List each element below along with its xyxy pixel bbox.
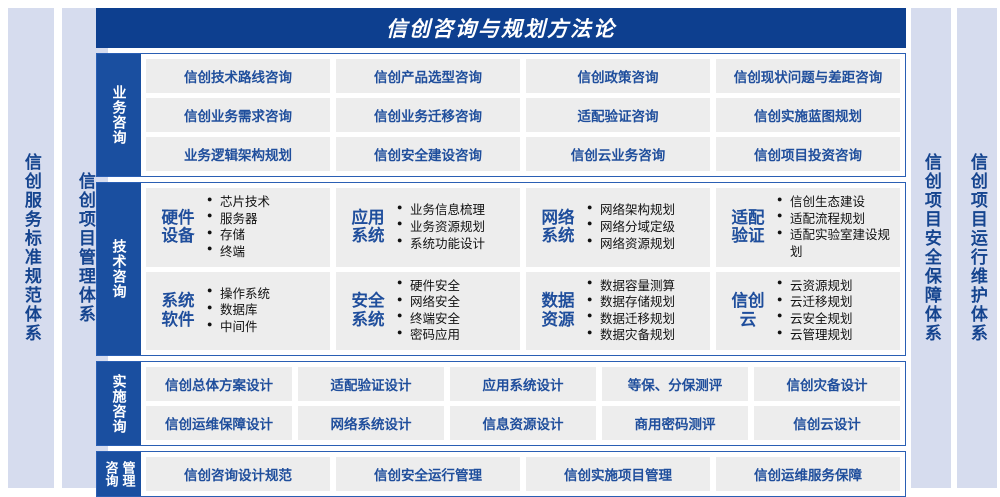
technology-card-list-item: 云安全规划 — [790, 311, 896, 328]
main-column: 信创咨询与规划方法论 业务咨询 信创技术路线咨询信创产品选型咨询信创政策咨询信创… — [96, 8, 906, 489]
implementation-chip[interactable]: 应用系统设计 — [450, 367, 596, 401]
technology-card-list-item: 数据库 — [220, 302, 326, 319]
management-chip[interactable]: 信创运维服务保障 — [716, 457, 900, 491]
implementation-row: 信创运维保障设计网络系统设计信息资源设计商用密码测评信创云设计 — [146, 406, 900, 440]
technology-card-list: 云资源规划云迁移规划云安全规划云管理规划 — [776, 278, 896, 345]
technology-card[interactable]: 信创 云云资源规划云迁移规划云安全规划云管理规划 — [716, 272, 900, 351]
technology-card-list-item: 网络架构规划 — [600, 202, 706, 219]
business-chip[interactable]: 信创技术路线咨询 — [146, 59, 330, 93]
band-label-implementation: 实施咨询 — [97, 362, 141, 445]
band-label-text: 实施咨询 — [111, 374, 126, 434]
technology-card-list-item: 芯片技术 — [220, 194, 326, 211]
technology-card-list: 操作系统数据库中间件 — [206, 286, 326, 336]
management-row: 信创咨询设计规范信创安全运行管理信创实施项目管理信创运维服务保障 — [146, 457, 900, 491]
business-chip[interactable]: 信创政策咨询 — [526, 59, 710, 93]
technology-card-title: 硬件 设备 — [154, 209, 202, 246]
business-chip[interactable]: 信创业务迁移咨询 — [336, 98, 520, 132]
implementation-chip[interactable]: 等保、分保测评 — [602, 367, 748, 401]
business-chip[interactable]: 业务逻辑架构规划 — [146, 137, 330, 171]
band-label-technology: 技术咨询 — [97, 183, 141, 355]
technology-card-list-item: 适配流程规划 — [790, 211, 896, 228]
business-chip[interactable]: 信创现状问题与差距咨询 — [716, 59, 900, 93]
technology-card[interactable]: 数据 资源数据容量测算数据存储规划数据迁移规划数据灾备规划 — [526, 272, 710, 351]
technology-card-list-item: 网络安全 — [410, 294, 516, 311]
management-chip[interactable]: 信创咨询设计规范 — [146, 457, 330, 491]
technology-card-title: 适配 验证 — [724, 209, 772, 246]
band-body-management: 信创咨询设计规范信创安全运行管理信创实施项目管理信创运维服务保障 — [141, 452, 905, 496]
band-consulting-management: 咨询 管理 信创咨询设计规范信创安全运行管理信创实施项目管理信创运维服务保障 — [96, 451, 906, 497]
technology-card[interactable]: 安全 系统硬件安全网络安全终端安全密码应用 — [336, 272, 520, 351]
implementation-chip[interactable]: 信创灾备设计 — [754, 367, 900, 401]
implementation-chip[interactable]: 网络系统设计 — [298, 406, 444, 440]
technology-card-list-item: 云管理规划 — [790, 327, 896, 344]
band-label-business: 业务咨询 — [97, 54, 141, 176]
business-chip[interactable]: 信创实施蓝图规划 — [716, 98, 900, 132]
technology-card-title: 系统 软件 — [154, 292, 202, 329]
pillar-label: 信创项目管理体系 — [76, 172, 94, 324]
technology-card-title: 信创 云 — [724, 292, 772, 329]
technology-card-list-item: 业务资源规划 — [410, 219, 516, 236]
management-chip[interactable]: 信创实施项目管理 — [526, 457, 710, 491]
technology-card-list-item: 信创生态建设 — [790, 194, 896, 211]
technology-card-list-item: 云资源规划 — [790, 278, 896, 295]
band-label-text: 业务咨询 — [111, 85, 126, 145]
technology-card-list: 硬件安全网络安全终端安全密码应用 — [396, 278, 516, 345]
band-implementation-consulting: 实施咨询 信创总体方案设计适配验证设计应用系统设计等保、分保测评信创灾备设计信创… — [96, 361, 906, 446]
pillar-label: 信创服务标准规范体系 — [22, 153, 40, 343]
technology-card-title: 数据 资源 — [534, 292, 582, 329]
business-row: 信创业务需求咨询信创业务迁移咨询适配验证咨询信创实施蓝图规划 — [146, 98, 900, 132]
banner-title: 信创咨询与规划方法论 — [386, 13, 616, 43]
technology-card-list-item: 存储 — [220, 227, 326, 244]
technology-card-list-item: 数据存储规划 — [600, 294, 706, 311]
business-row: 业务逻辑架构规划信创安全建设咨询信创云业务咨询信创项目投资咨询 — [146, 137, 900, 171]
technology-card[interactable]: 应用 系统业务信息梳理业务资源规划系统功能设计 — [336, 188, 520, 267]
technology-card-list-item: 服务器 — [220, 211, 326, 228]
band-body-technology: 硬件 设备芯片技术服务器存储终端应用 系统业务信息梳理业务资源规划系统功能设计网… — [141, 183, 905, 355]
business-chip[interactable]: 信创项目投资咨询 — [716, 137, 900, 171]
technology-card-list-item: 中间件 — [220, 319, 326, 336]
technology-card-list-item: 网络资源规划 — [600, 236, 706, 253]
management-chip[interactable]: 信创安全运行管理 — [336, 457, 520, 491]
technology-card-list: 业务信息梳理业务资源规划系统功能设计 — [396, 202, 516, 252]
technology-card[interactable]: 系统 软件操作系统数据库中间件 — [146, 272, 330, 351]
pillar-label: 信创项目运行维护体系 — [968, 153, 986, 343]
technology-card-list-item: 网络分域定级 — [600, 219, 706, 236]
band-label-text-col1: 咨询 — [103, 461, 117, 487]
technology-card-list-item: 适配实验室建设规划 — [790, 227, 896, 260]
technology-card[interactable]: 适配 验证信创生态建设适配流程规划适配实验室建设规划 — [716, 188, 900, 267]
business-chip[interactable]: 信创产品选型咨询 — [336, 59, 520, 93]
technology-card-row: 硬件 设备芯片技术服务器存储终端应用 系统业务信息梳理业务资源规划系统功能设计网… — [146, 188, 900, 267]
technology-card[interactable]: 硬件 设备芯片技术服务器存储终端 — [146, 188, 330, 267]
methodology-diagram: 信创服务标准规范体系 信创项目管理体系 信创项目安全保障体系 信创项目运行维护体… — [0, 0, 1000, 496]
implementation-chip[interactable]: 信创云设计 — [754, 406, 900, 440]
banner: 信创咨询与规划方法论 — [96, 8, 906, 48]
implementation-chip[interactable]: 信息资源设计 — [450, 406, 596, 440]
technology-card-list-item: 终端 — [220, 244, 326, 261]
technology-card-list-item: 操作系统 — [220, 286, 326, 303]
technology-card-title: 网络 系统 — [534, 209, 582, 246]
pillar-project-security-system: 信创项目安全保障体系 — [911, 8, 951, 488]
technology-card-list-item: 业务信息梳理 — [410, 202, 516, 219]
band-body-business: 信创技术路线咨询信创产品选型咨询信创政策咨询信创现状问题与差距咨询信创业务需求咨… — [141, 54, 905, 176]
implementation-chip[interactable]: 信创运维保障设计 — [146, 406, 292, 440]
technology-card-list: 芯片技术服务器存储终端 — [206, 194, 326, 261]
band-technology-consulting: 技术咨询 硬件 设备芯片技术服务器存储终端应用 系统业务信息梳理业务资源规划系统… — [96, 182, 906, 356]
technology-card-list: 数据容量测算数据存储规划数据迁移规划数据灾备规划 — [586, 278, 706, 345]
technology-card-list-item: 硬件安全 — [410, 278, 516, 295]
implementation-chip[interactable]: 商用密码测评 — [602, 406, 748, 440]
technology-card-list: 信创生态建设适配流程规划适配实验室建设规划 — [776, 194, 896, 261]
band-label-management: 咨询 管理 — [97, 452, 141, 496]
business-row: 信创技术路线咨询信创产品选型咨询信创政策咨询信创现状问题与差距咨询 — [146, 59, 900, 93]
implementation-chip[interactable]: 适配验证设计 — [298, 367, 444, 401]
technology-card-list-item: 数据容量测算 — [600, 278, 706, 295]
business-chip[interactable]: 信创业务需求咨询 — [146, 98, 330, 132]
pillar-label: 信创项目安全保障体系 — [922, 153, 940, 343]
business-chip[interactable]: 信创安全建设咨询 — [336, 137, 520, 171]
band-label-text-col2: 管理 — [121, 461, 135, 487]
technology-card-list-item: 数据灾备规划 — [600, 327, 706, 344]
implementation-row: 信创总体方案设计适配验证设计应用系统设计等保、分保测评信创灾备设计 — [146, 367, 900, 401]
technology-card-list-item: 终端安全 — [410, 311, 516, 328]
pillar-project-operations-system: 信创项目运行维护体系 — [957, 8, 997, 488]
pillar-service-standard-system: 信创服务标准规范体系 — [8, 8, 54, 488]
technology-card-list: 网络架构规划网络分域定级网络资源规划 — [586, 202, 706, 252]
technology-card-row: 系统 软件操作系统数据库中间件安全 系统硬件安全网络安全终端安全密码应用数据 资… — [146, 272, 900, 351]
band-business-consulting: 业务咨询 信创技术路线咨询信创产品选型咨询信创政策咨询信创现状问题与差距咨询信创… — [96, 53, 906, 177]
band-label-text: 技术咨询 — [111, 239, 126, 299]
technology-card[interactable]: 网络 系统网络架构规划网络分域定级网络资源规划 — [526, 188, 710, 267]
business-chip[interactable]: 适配验证咨询 — [526, 98, 710, 132]
business-chip[interactable]: 信创云业务咨询 — [526, 137, 710, 171]
technology-card-title: 安全 系统 — [344, 292, 392, 329]
technology-card-list-item: 云迁移规划 — [790, 294, 896, 311]
technology-card-list-item: 数据迁移规划 — [600, 311, 706, 328]
technology-card-list-item: 密码应用 — [410, 327, 516, 344]
technology-card-list-item: 系统功能设计 — [410, 236, 516, 253]
implementation-chip[interactable]: 信创总体方案设计 — [146, 367, 292, 401]
technology-card-title: 应用 系统 — [344, 209, 392, 246]
band-body-implementation: 信创总体方案设计适配验证设计应用系统设计等保、分保测评信创灾备设计信创运维保障设… — [141, 362, 905, 445]
